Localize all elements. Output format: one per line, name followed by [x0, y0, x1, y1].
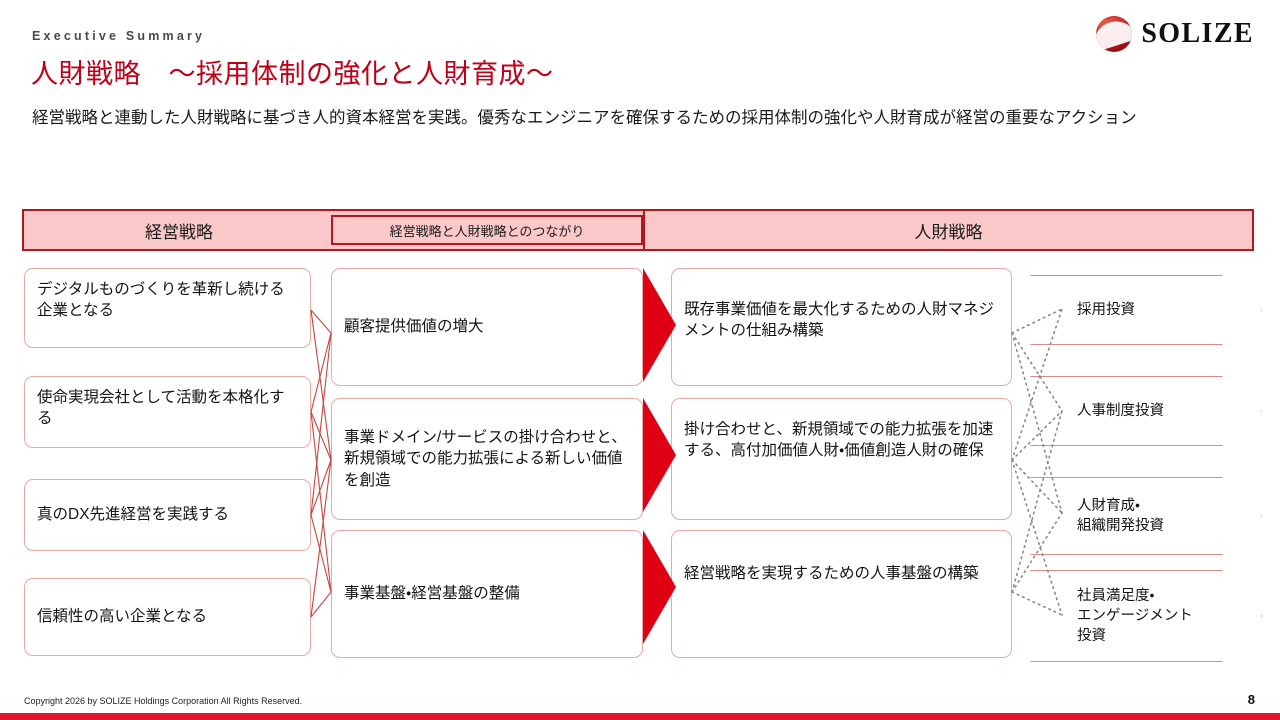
- linkage-box-3-text: 事業基盤・経営基盤の整備: [344, 583, 520, 604]
- footer-copyright: Copyright 2026 by SOLIZE Holdings Corpor…: [24, 696, 302, 706]
- band-label-strategy: 経営戦略: [24, 211, 334, 249]
- investment-chevron-1[interactable]: 採用投資: [1030, 275, 1262, 345]
- linkage-box-1[interactable]: 顧客提供価値の増大: [331, 268, 643, 386]
- solize-logo: SOLIZE: [1096, 16, 1254, 52]
- strategy-box-3[interactable]: 真のDX先進経営を実践する: [24, 479, 311, 551]
- strategy-box-2-text: 使命実現会社として活動を本格化する: [37, 387, 298, 430]
- strategy-box-1[interactable]: デジタルものづくりを革新し続ける企業となる: [24, 268, 311, 348]
- hr-strategy-box-3[interactable]: 経営戦略を実現するための人事基盤の構築: [671, 530, 1012, 658]
- linkage-box-2[interactable]: 事業ドメイン/サービスの掛け合わせと、新規領域での能力拡張による新しい価値を創造: [331, 398, 643, 520]
- investment-chevron-1-text: 採用投資: [1077, 300, 1135, 320]
- slide: Executive Summary 人財戦略 〜採用体制の強化と人財育成〜 経営…: [0, 0, 1280, 720]
- hr-strategy-box-1[interactable]: 既存事業価値を最大化するための人財マネジメントの仕組み構築: [671, 268, 1012, 386]
- investment-chevron-4-text: 社員満足度・ エンゲージメント 投資: [1077, 586, 1193, 647]
- hr-strategy-box-2-text: 掛け合わせと、新規領域での能力拡張を加速する、高付加価値人財・価値創造人財の確保: [684, 419, 999, 462]
- page-number: 8: [1248, 692, 1255, 707]
- strategy-box-1-text: デジタルものづくりを革新し続ける企業となる: [37, 279, 298, 322]
- linkage-box-2-text: 事業ドメイン/サービスの掛け合わせと、新規領域での能力拡張による新しい価値を創造: [344, 427, 630, 491]
- logo-wordmark: SOLIZE: [1141, 18, 1254, 50]
- strategy-box-4[interactable]: 信頼性の高い企業となる: [24, 578, 311, 656]
- lead-paragraph: 経営戦略と連動した人財戦略に基づき人的資本経営を実践。優秀なエンジニアを確保する…: [32, 107, 1242, 131]
- strategy-box-3-text: 真のDX先進経営を実践する: [37, 504, 229, 525]
- eyebrow-label: Executive Summary: [32, 29, 205, 43]
- investment-chevron-2-text: 人事制度投資: [1077, 401, 1164, 421]
- strategy-box-2[interactable]: 使命実現会社として活動を本格化する: [24, 376, 311, 448]
- solize-sphere-icon: [1096, 16, 1132, 52]
- investment-chevron-4[interactable]: 社員満足度・ エンゲージメント 投資: [1030, 570, 1262, 662]
- footer-accent-bar: [0, 713, 1280, 720]
- strategy-box-4-text: 信頼性の高い企業となる: [37, 606, 207, 627]
- investment-chevron-3-text: 人財育成・ 組織開発投資: [1077, 496, 1164, 537]
- band-label-linkage: 経営戦略と人財戦略とのつながり: [331, 215, 643, 245]
- hr-strategy-box-2[interactable]: 掛け合わせと、新規領域での能力拡張を加速する、高付加価値人財・価値創造人財の確保: [671, 398, 1012, 520]
- hr-strategy-box-3-text: 経営戦略を実現するための人事基盤の構築: [684, 563, 979, 584]
- linkage-box-1-text: 顧客提供価値の増大: [344, 316, 484, 337]
- band-label-hr-strategy: 人財戦略: [645, 211, 1252, 249]
- hr-strategy-box-1-text: 既存事業価値を最大化するための人財マネジメントの仕組み構築: [684, 299, 999, 342]
- investment-chevron-3[interactable]: 人財育成・ 組織開発投資: [1030, 477, 1262, 555]
- page-title: 人財戦略 〜採用体制の強化と人財育成〜: [31, 52, 554, 91]
- investment-chevron-2[interactable]: 人事制度投資: [1030, 376, 1262, 446]
- linkage-box-3[interactable]: 事業基盤・経営基盤の整備: [331, 530, 643, 658]
